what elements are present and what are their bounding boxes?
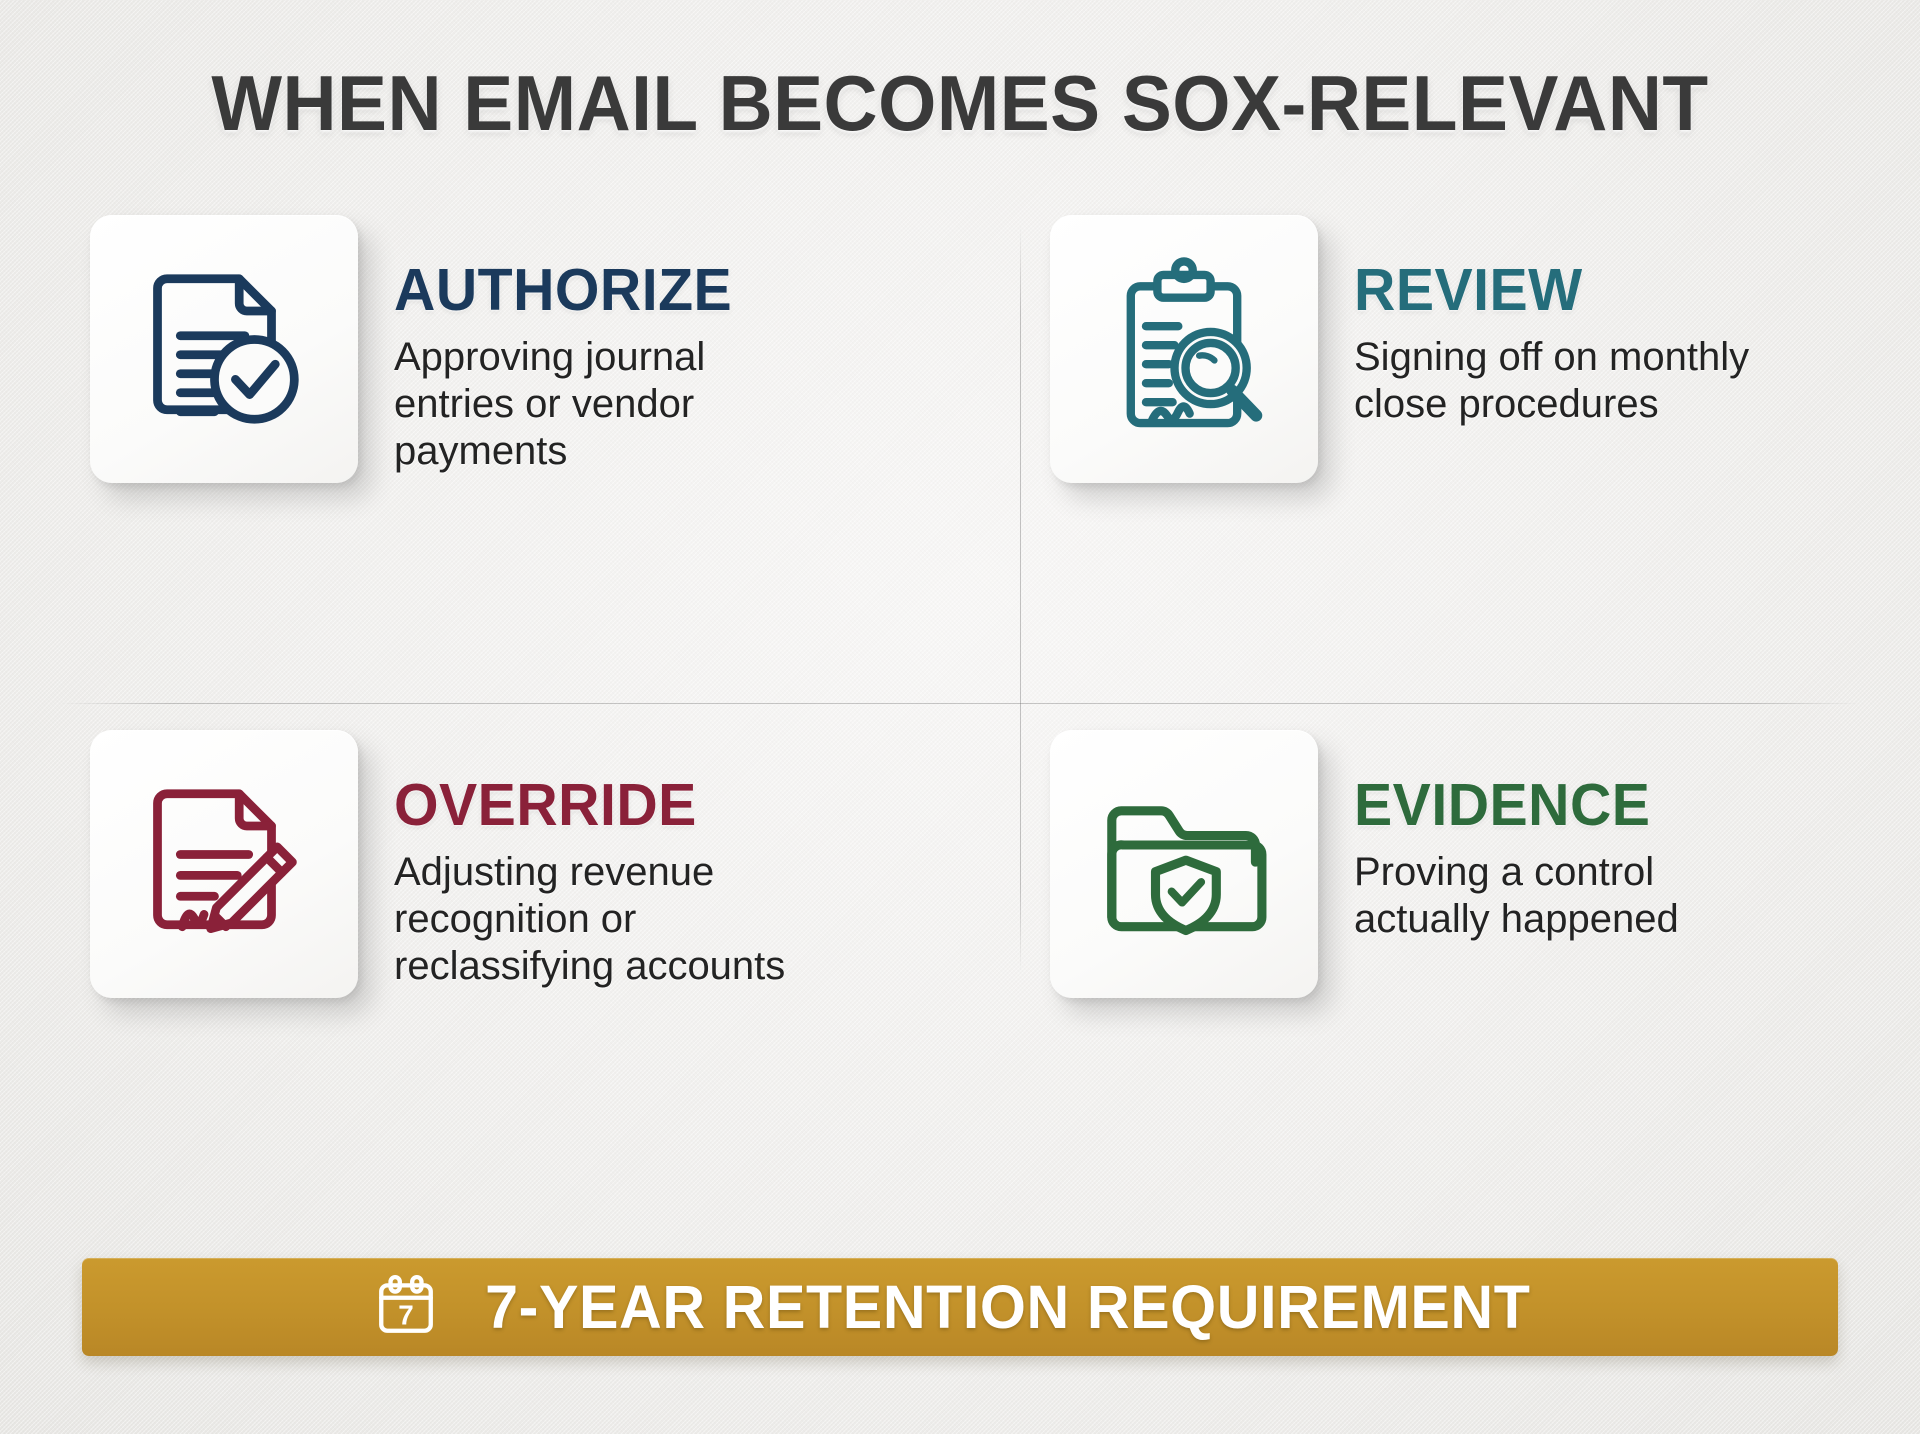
authorize-text-block: AUTHORIZE Approving journal entries or v… xyxy=(358,215,794,474)
review-description: Signing off on monthly close procedures xyxy=(1354,334,1754,428)
review-icon-card xyxy=(1050,215,1318,483)
review-text-block: REVIEW Signing off on monthly close proc… xyxy=(1318,215,1754,428)
quadrant-grid: AUTHORIZE Approving journal entries or v… xyxy=(60,205,1860,995)
override-text-block: OVERRIDE Adjusting revenue recognition o… xyxy=(358,730,794,989)
folder-shield-icon xyxy=(1089,769,1279,959)
review-keyword: REVIEW xyxy=(1354,261,1742,320)
calendar-day-number: 7 xyxy=(398,1299,413,1330)
retention-banner: 7 7-YEAR RETENTION REQUIREMENT xyxy=(82,1258,1838,1356)
document-check-icon xyxy=(129,254,319,444)
retention-banner-label: 7-YEAR RETENTION REQUIREMENT xyxy=(485,1272,1530,1342)
authorize-icon-card xyxy=(90,215,358,483)
evidence-icon-card xyxy=(1050,730,1318,998)
authorize-keyword: AUTHORIZE xyxy=(394,261,782,320)
document-pencil-icon xyxy=(129,769,319,959)
override-icon-card xyxy=(90,730,358,998)
calendar-icon: 7 xyxy=(373,1273,439,1344)
page-title: WHEN EMAIL BECOMES SOX-RELEVANT xyxy=(38,58,1881,149)
quadrant-evidence: EVIDENCE Proving a control actually happ… xyxy=(1050,730,1754,998)
evidence-keyword: EVIDENCE xyxy=(1354,776,1742,835)
authorize-description: Approving journal entries or vendor paym… xyxy=(394,334,794,474)
quadrant-authorize: AUTHORIZE Approving journal entries or v… xyxy=(90,215,794,483)
grid-horizontal-divider xyxy=(60,703,1860,704)
evidence-description: Proving a control actually happened xyxy=(1354,849,1754,943)
evidence-text-block: EVIDENCE Proving a control actually happ… xyxy=(1318,730,1754,943)
grid-vertical-divider xyxy=(1020,225,1021,973)
override-description: Adjusting revenue recognition or reclass… xyxy=(394,849,794,989)
clipboard-magnifier-icon xyxy=(1089,254,1279,444)
quadrant-override: OVERRIDE Adjusting revenue recognition o… xyxy=(90,730,794,998)
override-keyword: OVERRIDE xyxy=(394,776,782,835)
quadrant-review: REVIEW Signing off on monthly close proc… xyxy=(1050,215,1754,483)
